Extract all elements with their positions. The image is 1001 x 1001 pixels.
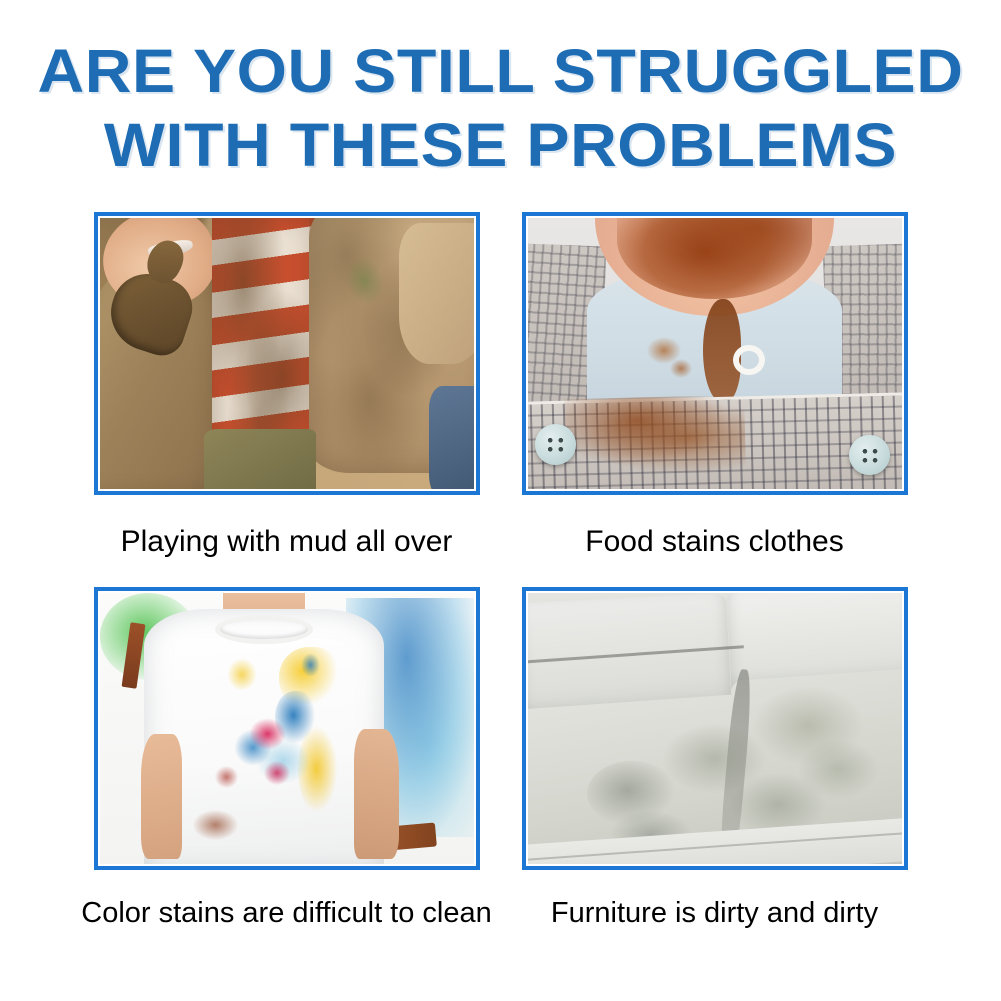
paint-stain-blue-3	[301, 653, 320, 677]
sofa-stain-6	[797, 739, 879, 799]
paint-child-arm-left	[141, 734, 182, 859]
problem-row-top: Playing with mud all over	[0, 212, 1001, 559]
page-title: ARE YOU STILL STRUGGLED WITH THESE PROBL…	[0, 34, 1001, 182]
food-stain-spot-b	[670, 359, 692, 378]
food-white-ring-snap	[733, 345, 764, 375]
problem-card-paint: Color stains are difficult to clean	[92, 587, 482, 930]
photo-paint-stained-shirt	[100, 593, 474, 864]
photo-food-stained-bib	[528, 218, 902, 489]
photo-dirty-sofa	[528, 593, 902, 864]
photo-muddy-children	[100, 218, 474, 489]
photo-frame-sofa	[522, 587, 908, 870]
paint-child-arm-right	[354, 729, 399, 859]
mud-camo-pants	[204, 429, 316, 489]
photo-frame-paint	[94, 587, 480, 870]
problem-card-mud: Playing with mud all over	[92, 212, 482, 559]
mud-blue-jeans	[429, 386, 474, 489]
paint-stain-brown	[193, 810, 238, 840]
headline-line-1: ARE YOU STILL STRUGGLED	[0, 34, 1001, 108]
mud-rolled-sleeve	[399, 223, 474, 364]
paint-stain-red-3	[215, 766, 237, 788]
problem-card-sofa: Furniture is dirty and dirty	[520, 587, 910, 930]
headline-line-2: WITH THESE PROBLEMS	[0, 108, 1001, 182]
problem-row-bottom: Color stains are difficult to clean	[0, 587, 1001, 930]
caption-sofa: Furniture is dirty and dirty	[551, 896, 878, 930]
problem-grid: Playing with mud all over	[0, 212, 1001, 930]
caption-mud: Playing with mud all over	[121, 525, 453, 559]
caption-food: Food stains clothes	[585, 525, 843, 559]
food-button-left	[535, 424, 576, 465]
paint-stain-yellow-3	[227, 658, 257, 691]
caption-paint: Color stains are difficult to clean	[81, 896, 492, 930]
photo-frame-food	[522, 212, 908, 495]
problem-card-food: Food stains clothes	[520, 212, 910, 559]
photo-frame-mud	[94, 212, 480, 495]
food-stain-on-band	[564, 395, 745, 475]
paint-tshirt-collar	[215, 615, 312, 645]
